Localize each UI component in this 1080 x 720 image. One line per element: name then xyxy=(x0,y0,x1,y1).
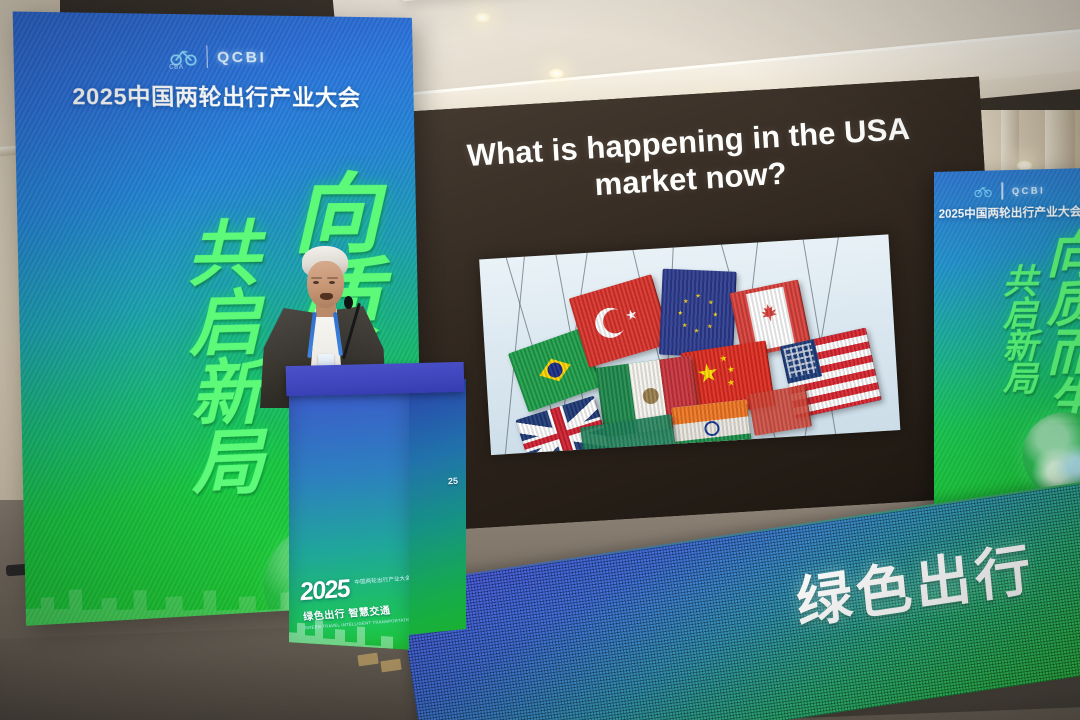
banner-left-logo: QCBI xyxy=(13,43,413,70)
container-turkey xyxy=(569,274,672,367)
led-floor-text: 绿色出行 xyxy=(793,524,1038,640)
banner-right-headline: 2025中国两轮出行产业大会 xyxy=(934,203,1080,222)
banner-left-calligraphy-secondary: 共启新局 xyxy=(178,215,256,496)
slide-surface: What is happening in the USA market now? xyxy=(400,77,1005,532)
eyebrow-left xyxy=(311,277,322,279)
container-india xyxy=(671,399,752,455)
ceiling-downlight xyxy=(474,12,491,23)
podium-front-panel: 2025 中国两轮出行产业大会 绿色出行 智慧交通 GREEN TRAVEL I… xyxy=(289,384,409,650)
podium-conference-name: 中国两轮出行产业大会 xyxy=(354,574,409,586)
qcbi-logo-text: QCBI xyxy=(1012,185,1045,196)
container-back-red xyxy=(748,385,812,436)
eye-right xyxy=(329,281,335,284)
face xyxy=(307,261,344,308)
eyebrow-right xyxy=(327,277,338,279)
slide-image-containers xyxy=(479,234,900,455)
banner-right-logo: QCBI xyxy=(934,180,1080,201)
logo-divider xyxy=(206,45,208,68)
podium-edge-number: 25 xyxy=(448,476,459,487)
presentation-screen: What is happening in the USA market now? xyxy=(400,77,1005,532)
ceiling-downlight xyxy=(548,68,565,79)
banner-left-headline: 2025中国两轮出行产业大会 xyxy=(14,78,414,113)
banner-right: QCBI 2025中国两轮出行产业大会 向质而生 共启新局 xyxy=(934,168,1080,521)
podium-lectern-top xyxy=(286,362,465,396)
banner-right-calligraphy-secondary: 共启新局 xyxy=(999,263,1033,393)
container-eu xyxy=(659,269,737,358)
podium-skyline-graphic xyxy=(289,592,409,650)
bicycle-icon xyxy=(974,185,992,199)
eye-left xyxy=(313,281,319,284)
cba-logo-text: CBA xyxy=(169,65,184,71)
microphone-icon xyxy=(344,296,353,309)
bicycle-icon xyxy=(169,46,197,66)
slide-title: What is happening in the USA market now? xyxy=(448,110,932,212)
podium-side-panel xyxy=(406,379,466,635)
conference-stage-photo: What is happening in the USA market now? xyxy=(0,0,1080,720)
banner-right-calligraphy-primary: 向质而生 xyxy=(1042,227,1080,424)
mouth xyxy=(320,293,333,300)
qcbi-logo-text: QCBI xyxy=(217,48,267,66)
logo-divider xyxy=(1001,182,1003,199)
ceiling-recess xyxy=(396,0,1080,1)
